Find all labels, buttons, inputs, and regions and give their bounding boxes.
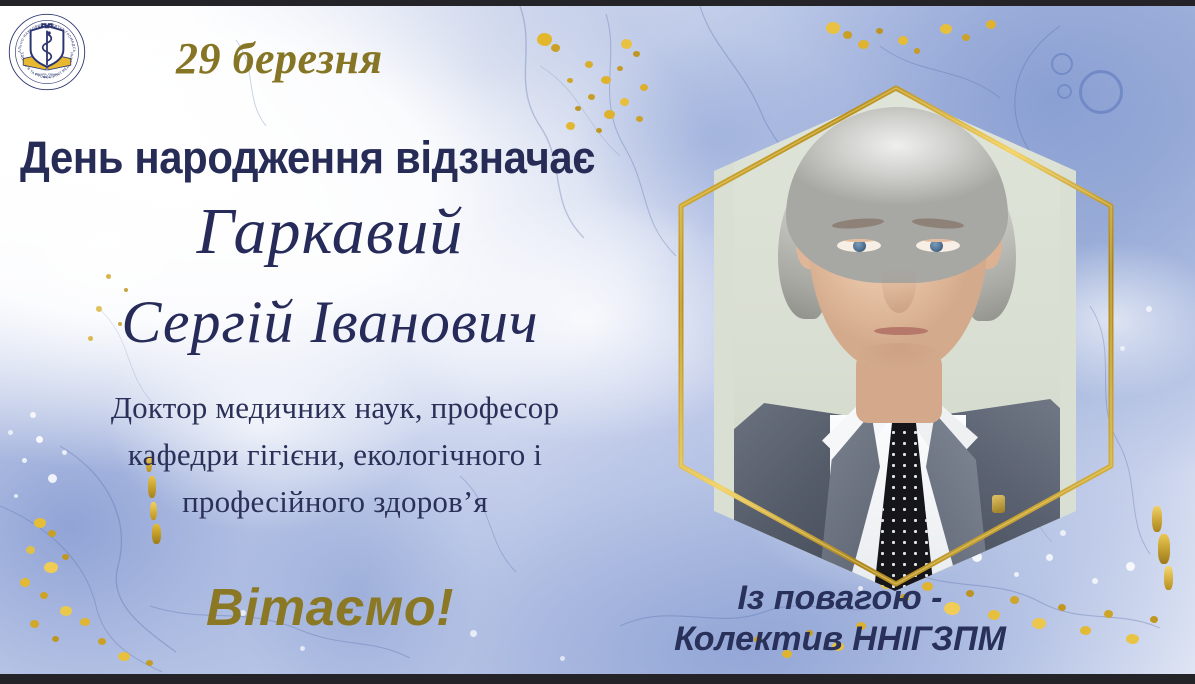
svg-text:Розумом, Серцем,: Розумом, Серцем, — [35, 72, 60, 76]
date-line: 29 березня — [176, 33, 383, 84]
congratulation-text: Вітаємо! — [0, 578, 660, 638]
headline: День народження відзначає — [20, 132, 595, 184]
greeting-card: НАВЧАЛЬНО-НАУКОВИЙ ІНСТИТУТ ГРОМАДСЬКОГО… — [0, 0, 1195, 684]
description-line-3: професійного здоров’я — [30, 478, 640, 525]
description-line-2: кафедри гігієни, екологічного і — [30, 431, 640, 478]
honoree-given-patronymic: Сергій Іванович — [0, 288, 660, 357]
card-canvas: НАВЧАЛЬНО-НАУКОВИЙ ІНСТИТУТ ГРОМАДСЬКОГО… — [0, 6, 1195, 674]
honoree-surname: Гаркавий — [0, 194, 660, 270]
institution-logo: НАВЧАЛЬНО-НАУКОВИЙ ІНСТИТУТ ГРОМАДСЬКОГО… — [6, 11, 88, 93]
honoree-description: Доктор медичних наук, професор кафедри г… — [30, 384, 640, 525]
svg-text:Рукою: Рукою — [43, 75, 52, 79]
hexagon-outline-icon — [656, 66, 1136, 606]
description-line-1: Доктор медичних наук, професор — [30, 384, 640, 431]
signature-line-2: Колектив ННІГЗПМ — [600, 619, 1080, 660]
portrait-frame — [656, 66, 1136, 606]
